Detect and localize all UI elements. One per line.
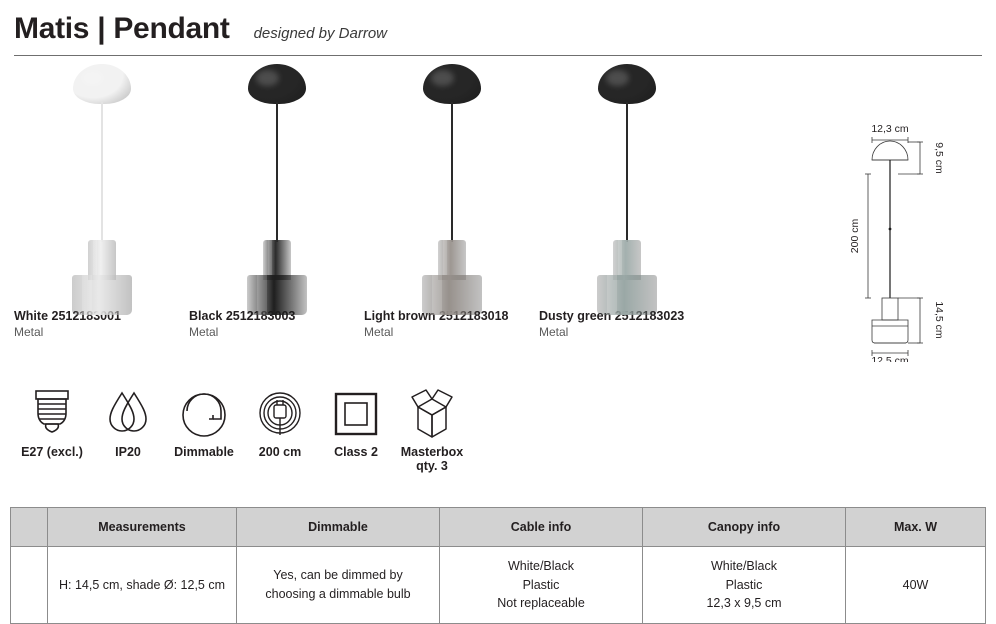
cord xyxy=(276,102,278,242)
variant-dusty-green[interactable]: Dusty green 2512183023 Metal xyxy=(539,56,714,346)
drawing-width-label: 12,3 cm xyxy=(871,123,909,135)
cell-line: choosing a dimmable bulb xyxy=(243,585,433,604)
shade-body xyxy=(72,275,132,315)
feature-icons: E27 (excl.) IP20 xyxy=(14,383,470,474)
variant-black[interactable]: Black 2512183003 Metal xyxy=(189,56,364,346)
lamp-illustration xyxy=(539,56,714,306)
variant-light-brown[interactable]: Light brown 2512183018 Metal xyxy=(364,56,539,346)
cell-line: White/Black xyxy=(649,557,839,576)
icon-label-line1: Masterbox xyxy=(401,445,464,459)
cord xyxy=(626,102,628,242)
icon-label-line1: Dimmable xyxy=(174,445,234,459)
page-header: Matis | Pendant designed by Darrow xyxy=(0,0,996,46)
designer-credit: designed by Darrow xyxy=(254,25,387,42)
column-header-canopy-info: Canopy info xyxy=(643,508,846,547)
feature-ip20: IP20 xyxy=(90,383,166,474)
feature-masterbox: Masterbox qty. 3 xyxy=(394,383,470,474)
dimmable-icon xyxy=(166,383,242,443)
cell-line: Not replaceable xyxy=(446,594,636,613)
cell-line: White/Black xyxy=(446,557,636,576)
cell-max-w: 40W xyxy=(846,547,986,624)
cell-line: Yes, can be dimmed by xyxy=(243,566,433,585)
variant-material: Metal xyxy=(364,325,539,339)
cell-measurements: H: 14,5 cm, shade Ø: 12,5 cm xyxy=(48,547,237,624)
column-header-dimmable: Dimmable xyxy=(237,508,440,547)
icon-label-line1: IP20 xyxy=(115,445,141,459)
canopy xyxy=(73,64,131,104)
column-header-measurements: Measurements xyxy=(48,508,237,547)
icon-label-line1: 200 cm xyxy=(259,445,301,459)
icon-label-line2: qty. 3 xyxy=(416,459,448,473)
shade-body xyxy=(247,275,307,315)
lamp-illustration xyxy=(14,56,189,306)
shade-body xyxy=(597,275,657,315)
cord xyxy=(451,102,453,242)
cell-line: Plastic xyxy=(446,576,636,595)
shade-body xyxy=(422,275,482,315)
table-row: H: 14,5 cm, shade Ø: 12,5 cm Yes, can be… xyxy=(11,547,986,624)
column-header-spacer xyxy=(11,508,48,547)
icon-label-line2: (excl.) xyxy=(47,445,83,459)
feature-dimmable: Dimmable xyxy=(166,383,242,474)
column-header-max-w: Max. W xyxy=(846,508,986,547)
shade-neck xyxy=(263,240,291,280)
cell-dimmable: Yes, can be dimmed by choosing a dimmabl… xyxy=(237,547,440,624)
shade-neck xyxy=(613,240,641,280)
cell-spacer xyxy=(11,547,48,624)
variant-material: Metal xyxy=(189,325,364,339)
cell-canopy-info: White/Black Plastic 12,3 x 9,5 cm xyxy=(643,547,846,624)
drawing-canopy-height-label: 9,5 cm xyxy=(933,142,945,174)
feature-cable-length: 200 cm xyxy=(242,383,318,474)
ip20-droplet-icon xyxy=(90,383,166,443)
canopy xyxy=(248,64,306,104)
cable-length-plug-icon xyxy=(242,383,318,443)
drawing-cable-length-label: 200 cm xyxy=(849,219,861,254)
cell-line: 12,3 x 9,5 cm xyxy=(649,594,839,613)
page-title: Matis | Pendant xyxy=(14,12,230,46)
class-2-insulation-icon xyxy=(318,383,394,443)
shade-neck xyxy=(438,240,466,280)
lamp-illustration xyxy=(364,56,539,306)
e27-bulb-socket-icon xyxy=(14,383,90,443)
feature-e27: E27 (excl.) xyxy=(14,383,90,474)
shade-neck xyxy=(88,240,116,280)
variant-material: Metal xyxy=(14,325,189,339)
column-header-cable-info: Cable info xyxy=(440,508,643,547)
masterbox-icon xyxy=(394,383,470,443)
drawing-shade-diameter-label: 12.5 cm xyxy=(871,355,909,362)
variant-white[interactable]: White 2512183001 Metal xyxy=(14,56,189,346)
specification-table: Measurements Dimmable Cable info Canopy … xyxy=(10,507,986,624)
table-header-row: Measurements Dimmable Cable info Canopy … xyxy=(11,508,986,547)
cell-line: Plastic xyxy=(649,576,839,595)
canopy xyxy=(598,64,656,104)
lamp-illustration xyxy=(189,56,364,306)
variant-material: Metal xyxy=(539,325,714,339)
icon-label-line1: E27 xyxy=(21,445,43,459)
cord xyxy=(101,102,103,242)
drawing-shade-height-label: 14,5 cm xyxy=(933,301,945,339)
feature-class-2: Class 2 xyxy=(318,383,394,474)
cell-cable-info: White/Black Plastic Not replaceable xyxy=(440,547,643,624)
technical-drawing: 12,3 cm 9,5 cm 200 cm 14,5 cm 12.5 cm xyxy=(790,112,990,362)
icon-label-line1: Class 2 xyxy=(334,445,378,459)
canopy xyxy=(423,64,481,104)
